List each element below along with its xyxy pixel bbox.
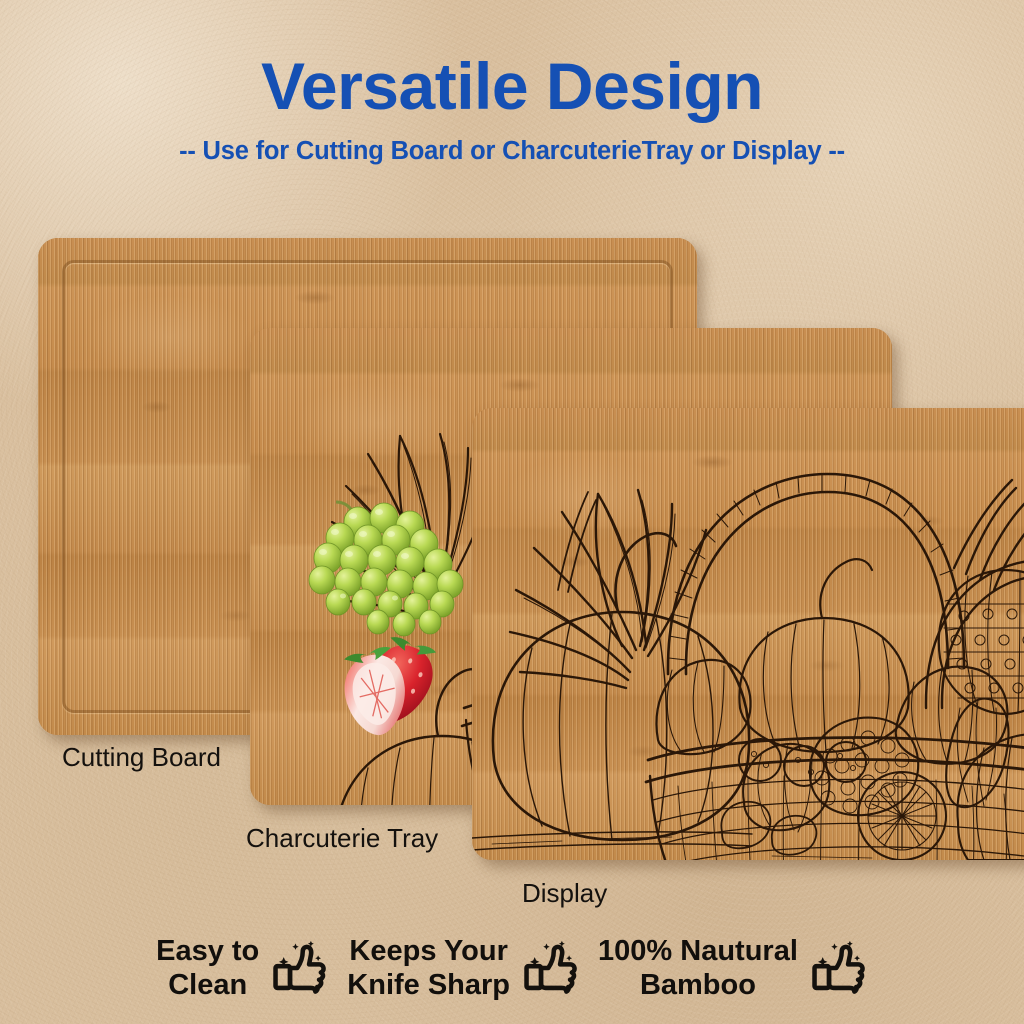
board-label-cutting-board: Cutting Board	[62, 742, 221, 773]
feature-label: Easy to Clean	[156, 934, 259, 1002]
feature-label: 100% Nautural Bamboo	[598, 934, 798, 1002]
headline-block: Versatile Design -- Use for Cutting Boar…	[0, 52, 1024, 166]
feature-label: Keeps Your Knife Sharp	[347, 934, 510, 1002]
thumbs-up-sparkle-icon	[271, 939, 329, 997]
feature-natural-bamboo: 100% Nautural Bamboo	[598, 934, 868, 1002]
product-board-display[interactable]	[472, 408, 1024, 860]
thumbs-up-sparkle-icon	[810, 939, 868, 997]
page-subtitle: -- Use for Cutting Board or CharcuterieT…	[0, 137, 1024, 166]
page-title: Versatile Design	[0, 52, 1024, 121]
strawberry-overlay	[330, 618, 470, 738]
engraved-harvest-artwork	[472, 408, 1024, 860]
thumbs-up-sparkle-icon	[522, 939, 580, 997]
feature-keeps-knife-sharp: Keeps Your Knife Sharp	[347, 934, 580, 1002]
board-label-charcuterie-tray: Charcuterie Tray	[246, 823, 438, 854]
feature-easy-to-clean: Easy to Clean	[156, 934, 329, 1002]
feature-row: Easy to Clean Keeps Your Knife Sharp	[0, 934, 1024, 1002]
board-label-display: Display	[522, 878, 607, 909]
